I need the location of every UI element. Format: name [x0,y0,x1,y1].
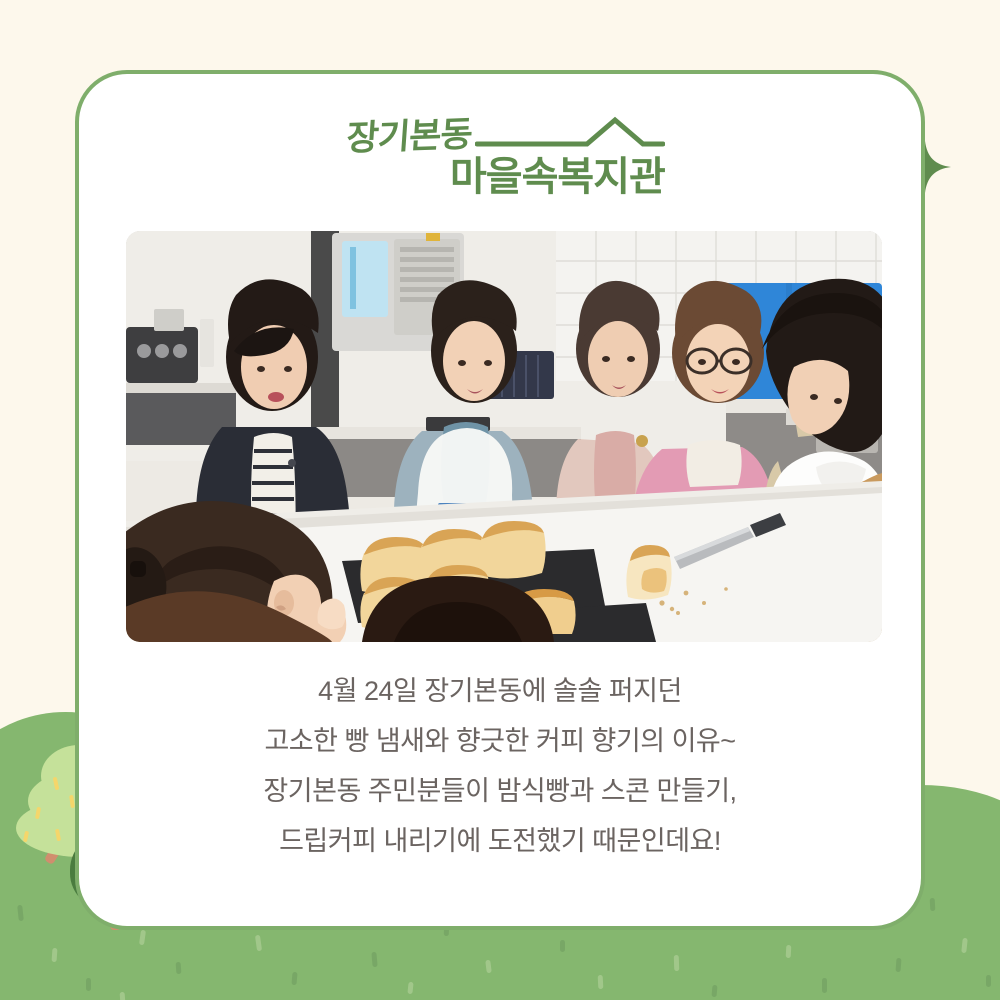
grass-tuft [120,992,126,1000]
grass-tuft [86,978,91,991]
grass-tuft [598,975,604,989]
grass-tuft [822,978,827,993]
grass-tuft [176,962,182,974]
caption-line-4: 드립커피 내리기에 도전했기 때문인데요! [79,816,921,866]
grass-tuft [674,955,680,971]
organization-logo: 장기본동 마을속복지관 [79,102,921,212]
grass-tuft [560,940,565,952]
poster-canvas: 장기본동 마을속복지관 [0,0,1000,1000]
grass-tuft [986,975,991,987]
activity-photo [126,231,882,642]
grass-tuft [52,948,58,962]
grass-tuft [896,958,902,972]
caption-line-1: 4월 24일 장기본동에 솔솔 퍼지던 [79,666,921,716]
logo-line-2: 마을속복지관 [450,144,665,202]
caption-line-3: 장기본동 주민분들이 밤식빵과 스콘 만들기, [79,766,921,816]
poster-card: 장기본동 마을속복지관 [75,70,925,930]
caption-line-2: 고소한 빵 냄새와 향긋한 커피 향기의 이유~ [79,716,921,766]
caption-block: 4월 24일 장기본동에 솔솔 퍼지던 고소한 빵 냄새와 향긋한 커피 향기의… [79,666,921,866]
grass-tuft [786,945,792,958]
grass-tuft [930,898,936,911]
